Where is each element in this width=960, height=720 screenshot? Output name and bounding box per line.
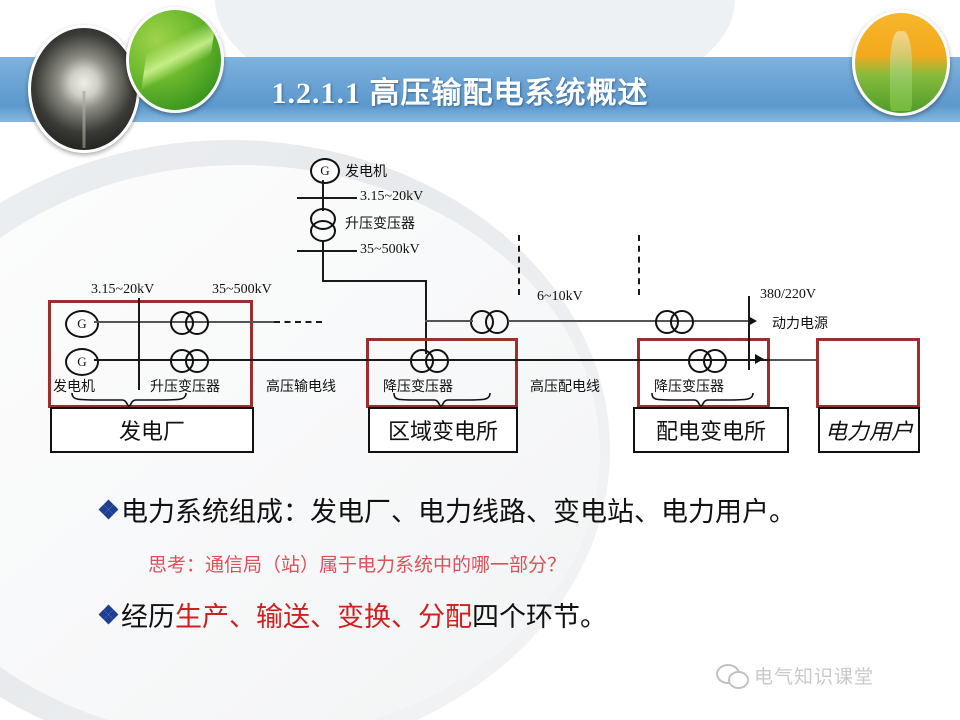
voltage-label-lv: 380/220V	[760, 287, 816, 303]
voltage-label-gen-plant: 3.15~20kV	[91, 282, 154, 298]
bullet-text-1: 电力系统组成：发电厂、电力线路、变电站、电力用户。	[121, 490, 796, 529]
voltage-label-hv-top: 35~500kV	[360, 242, 420, 258]
step-up-transformer-symbol-1	[170, 311, 210, 331]
stage-box-power-plant: 发电厂	[50, 407, 254, 453]
wire-mv-line-upper	[508, 320, 748, 322]
bus-vertical-plant	[138, 298, 140, 390]
step-down-transformer-symbol-distribution	[688, 349, 728, 369]
step-down-transformer-symbol-upper	[470, 310, 510, 330]
bullet-2-suffix: 四个环节。	[472, 602, 607, 632]
divider-dashed-left	[518, 235, 520, 295]
watermark-text: 电气知识课堂	[754, 662, 874, 689]
power-supply-label: 动力电源	[772, 313, 828, 333]
watermark: 电气知识课堂	[716, 662, 874, 689]
arrow-to-user	[755, 354, 764, 364]
stage-box-power-user: 电力用户	[818, 407, 920, 453]
wire-trunk-down	[322, 250, 324, 282]
stage-box-regional-substation: 区域变电所	[368, 407, 518, 453]
bullet-text-2: 经历生产、输送、变换、分配四个环节。	[121, 595, 607, 634]
divider-dashed-right	[638, 235, 640, 295]
wire-through-distribution-substation	[544, 359, 770, 361]
diamond-bullet-icon	[100, 606, 117, 623]
stage-box-distribution-substation: 配电变电所	[633, 407, 789, 453]
step-up-transformer-label-top: 升压变压器	[345, 213, 415, 233]
wire-transmission-dashed	[274, 321, 322, 323]
voltage-label-mv: 6~10kV	[537, 289, 583, 305]
wire-gen-to-bus	[322, 180, 324, 198]
step-down-transformer-symbol-regional	[410, 349, 450, 369]
brace-regional-substation	[392, 393, 492, 407]
brace-distribution-substation	[650, 393, 755, 407]
bullet-2-emphasis: 生产、输送、变换、分配	[175, 602, 472, 632]
bus-vertical-lv	[748, 296, 750, 370]
generator-symbol-top: G	[310, 158, 340, 184]
slide-canvas: 1.2.1.1 高压输配电系统概述 G 发电机 3.15~20kV 升压变压器 …	[0, 0, 960, 720]
bus-gen-voltage-top	[297, 197, 357, 199]
generator-symbol-1: G	[65, 310, 99, 338]
dandelion-photo	[28, 25, 140, 153]
generator-label-top: 发电机	[345, 161, 387, 181]
wire-to-upper-stepdown	[425, 320, 473, 322]
sub-question: 思考：通信局（站）属于电力系统中的哪一部分？	[148, 550, 566, 577]
step-down-transformer-symbol-mv	[655, 310, 695, 330]
step-up-transformer-symbol-top	[310, 208, 336, 242]
bus-hv-voltage-top	[297, 250, 357, 252]
sub-question-text: 思考：通信局（站）属于电力系统中的哪一部分？	[148, 555, 566, 576]
power-user-red-box	[816, 338, 920, 408]
voltage-label-gen-top: 3.15~20kV	[360, 189, 423, 205]
step-up-transformer-symbol-2	[170, 349, 210, 369]
generator-symbol-2: G	[65, 348, 99, 376]
bullet-2-prefix: 经历	[121, 602, 175, 632]
wire-to-user-box	[770, 359, 816, 361]
voltage-label-hv-plant: 35~500kV	[212, 282, 272, 298]
transmission-line-label: 高压输电线	[266, 376, 336, 396]
distribution-line-label: 高压配电线	[530, 376, 600, 396]
wechat-icon	[716, 664, 746, 688]
brace-power-plant	[70, 393, 188, 407]
bullet-item-1: 电力系统组成：发电厂、电力线路、变电站、电力用户。	[100, 490, 796, 529]
tulip-photo	[852, 10, 950, 116]
wire-trunk-right	[322, 280, 427, 282]
power-system-diagram: G 发电机 3.15~20kV 升压变压器 35~500kV 3.15~20kV…	[0, 150, 960, 470]
bullet-item-2: 经历生产、输送、变换、分配四个环节。	[100, 595, 607, 634]
green-leaf-photo	[126, 7, 224, 113]
diamond-bullet-icon	[100, 501, 117, 518]
